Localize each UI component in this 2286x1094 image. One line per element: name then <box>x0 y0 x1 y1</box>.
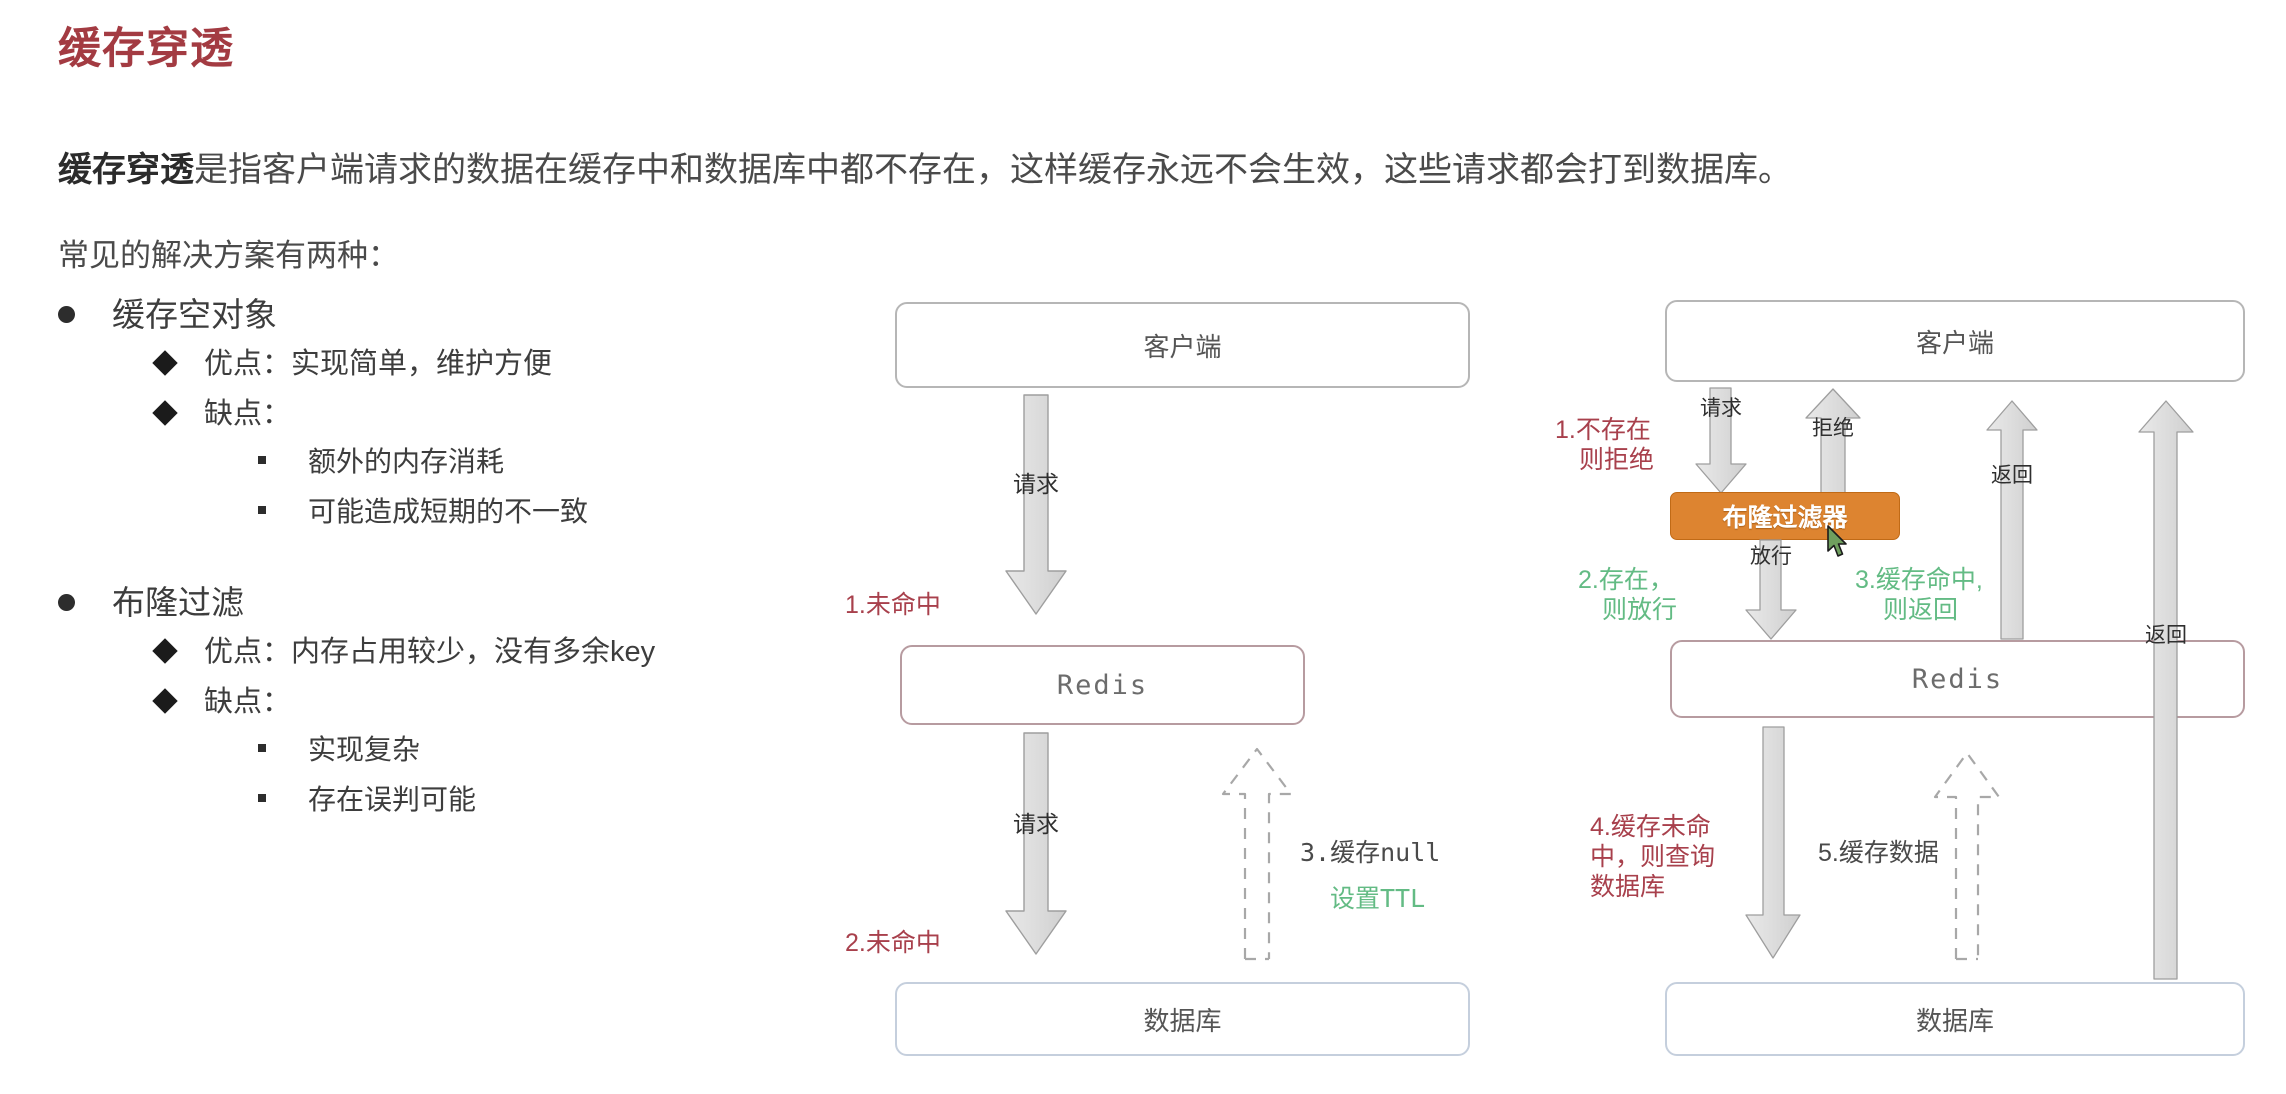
outline-item-bloom-filter: 布隆过滤 <box>58 576 655 628</box>
page-title: 缓存穿透 <box>58 14 234 76</box>
note-step-2-pass: 2.存在， 则放行 <box>1578 565 1677 625</box>
node-label: 数据库 <box>1143 1001 1221 1038</box>
note-step-4-cache-miss: 4.缓存未命 中，则查询 数据库 <box>1590 812 1715 902</box>
mouse-pointer-icon <box>1826 525 1852 559</box>
outline-leaf-label: 额外的内存消耗 <box>308 446 504 477</box>
note-step-1-miss: 1.未命中 <box>845 590 941 620</box>
arrow-bloom-to-redis-pass: 放行 <box>1745 540 1797 640</box>
bullet-diamond-icon <box>152 401 177 426</box>
outline-item-label: 缓存空对象 <box>112 296 277 333</box>
outline-item-label: 布隆过滤 <box>112 584 244 621</box>
node-redis-left: Redis <box>900 645 1305 725</box>
outline-leaf-label: 可能造成短期的不一致 <box>308 496 588 527</box>
bullet-dot-icon <box>58 306 75 323</box>
arrow-cache-null-left <box>1218 740 1296 960</box>
outline-subitem-cons-2: 缺点： <box>156 678 655 728</box>
node-database-right: 数据库 <box>1665 982 2245 1056</box>
arrow-client-to-redis-left: 请求 <box>1005 395 1067 615</box>
node-bloom-filter[interactable]: 布隆过滤器 <box>1670 492 1900 540</box>
node-label: 客户端 <box>1916 323 1994 360</box>
outline-subitem-label: 优点：内存占用较少，没有多余key <box>204 636 655 668</box>
intro-rest: 是指客户端请求的数据在缓存中和数据库中都不存在，这样缓存永远不会生效，这些请求都… <box>194 151 1792 189</box>
node-client-right: 客户端 <box>1665 300 2245 382</box>
bullet-square-icon <box>258 794 266 802</box>
note-step-3-cache-hit: 3.缓存命中, 则返回 <box>1855 565 1983 625</box>
bullet-square-icon <box>258 744 266 752</box>
bullet-square-icon <box>258 506 266 514</box>
bullet-diamond-icon <box>152 689 177 714</box>
outline-leaf-label: 实现复杂 <box>308 734 420 765</box>
arrow-client-to-bloom: 请求 <box>1695 388 1747 494</box>
outline-subitem-label: 缺点： <box>204 686 291 718</box>
arrow-database-to-client-return: 返回 <box>2138 400 2194 980</box>
note-step-2-miss: 2.未命中 <box>845 928 941 958</box>
bullet-diamond-icon <box>152 639 177 664</box>
node-label: 客户端 <box>1143 327 1221 364</box>
outline-subitem-label: 优点：实现简单，维护方便 <box>204 348 552 380</box>
arrow-redis-to-database-query <box>1745 727 1801 959</box>
node-database-left: 数据库 <box>895 982 1470 1056</box>
note-step-3-cache-null: 3.缓存null <box>1300 838 1440 868</box>
bullet-dot-icon <box>58 594 75 611</box>
bullet-diamond-icon <box>152 351 177 376</box>
arrow-redis-to-client-return: 返回 <box>1986 400 2038 640</box>
note-set-ttl: 设置TTL <box>1330 884 1425 914</box>
arrow-redis-to-database-left: 请求 <box>1005 733 1067 955</box>
node-label: Redis <box>1912 664 2003 695</box>
outline-item-cache-empty-object: 缓存空对象 <box>58 288 655 340</box>
outline-leaf-false-positive: 存在误判可能 <box>258 778 655 828</box>
outline-leaf-label: 存在误判可能 <box>308 784 476 815</box>
outline-subitem-pros-2: 优点：内存占用较少，没有多余key <box>156 628 655 678</box>
intro-lead: 缓存穿透 <box>58 151 194 189</box>
outline-leaf-complex-impl: 实现复杂 <box>258 728 655 778</box>
arrow-database-to-redis-cache <box>1930 745 2004 960</box>
node-label: 数据库 <box>1916 1001 1994 1038</box>
arrow-bloom-to-client-reject: 拒绝 <box>1805 388 1861 494</box>
note-step-1-reject: 1.不存在 则拒绝 <box>1555 415 1654 475</box>
bullet-square-icon <box>258 456 266 464</box>
outline-subitem-pros-1: 优点：实现简单，维护方便 <box>156 340 655 390</box>
outline-subitem-cons-1: 缺点： <box>156 390 655 440</box>
outline-leaf-inconsistency: 可能造成短期的不一致 <box>258 490 655 540</box>
note-step-5-cache-data: 5.缓存数据 <box>1818 838 1939 868</box>
node-client-left: 客户端 <box>895 302 1470 388</box>
outline-list: 缓存空对象 优点：实现简单，维护方便 缺点： 额外的内存消耗 可能造成短期的不一… <box>58 288 655 828</box>
outline-subitem-label: 缺点： <box>204 398 291 430</box>
solutions-heading: 常见的解决方案有两种： <box>58 230 399 275</box>
intro-paragraph: 缓存穿透是指客户端请求的数据在缓存中和数据库中都不存在，这样缓存永远不会生效，这… <box>58 148 1792 192</box>
node-label: Redis <box>1057 670 1148 701</box>
outline-leaf-memory-cost: 额外的内存消耗 <box>258 440 655 490</box>
